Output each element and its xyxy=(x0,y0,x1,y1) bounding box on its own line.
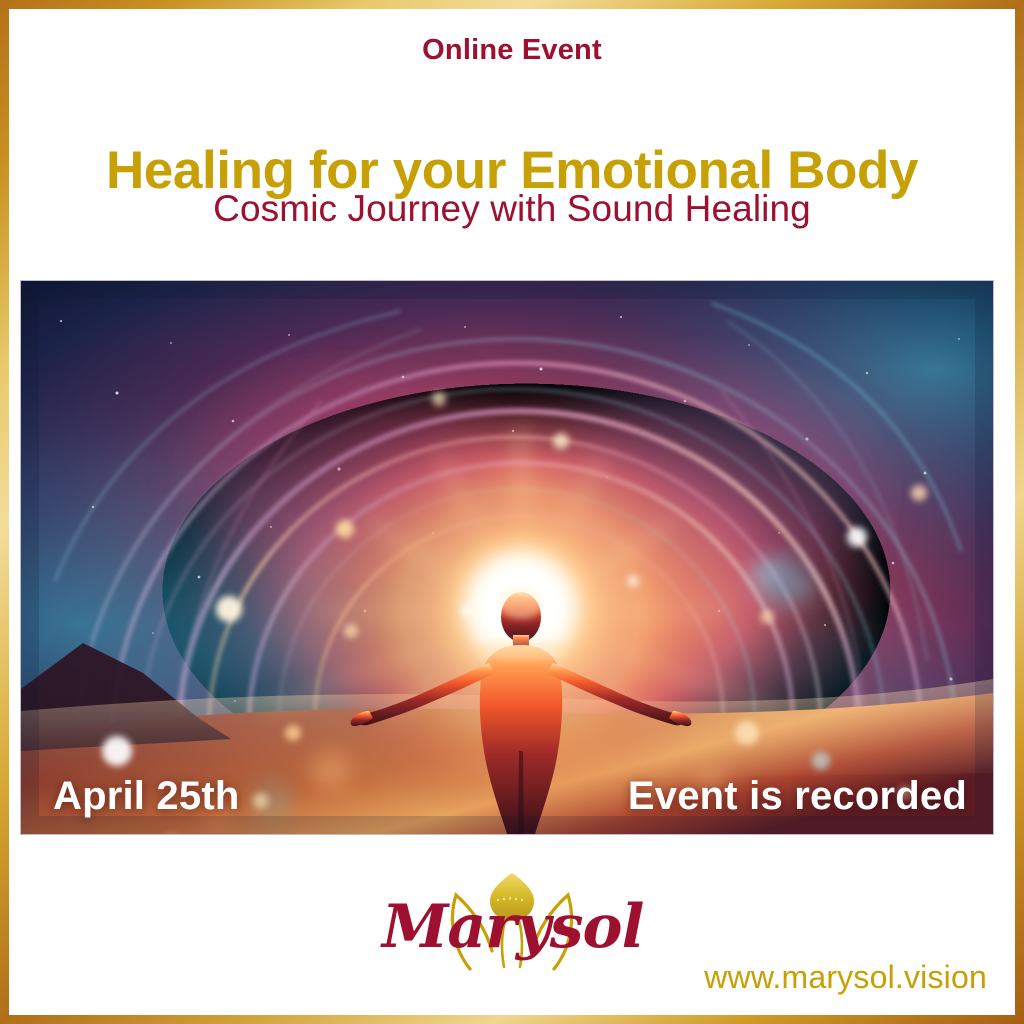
hero-image: April 25th Event is recorded xyxy=(21,281,993,834)
lotus-shield-flame-icon xyxy=(382,867,642,975)
event-recorded-caption: Event is recorded xyxy=(628,776,967,816)
event-date-caption: April 25th xyxy=(53,776,239,816)
page-subtitle: Cosmic Journey with Sound Healing xyxy=(9,189,1015,230)
website-url[interactable]: www.marysol.vision xyxy=(704,961,987,993)
brand-logo[interactable]: Marysol xyxy=(382,867,642,975)
cosmic-scene-illustration xyxy=(21,281,993,834)
event-type-label: Online Event xyxy=(9,35,1015,67)
poster-canvas: Online Event Healing for your Emotional … xyxy=(9,9,1015,1015)
event-poster: Online Event Healing for your Emotional … xyxy=(0,0,1024,1024)
